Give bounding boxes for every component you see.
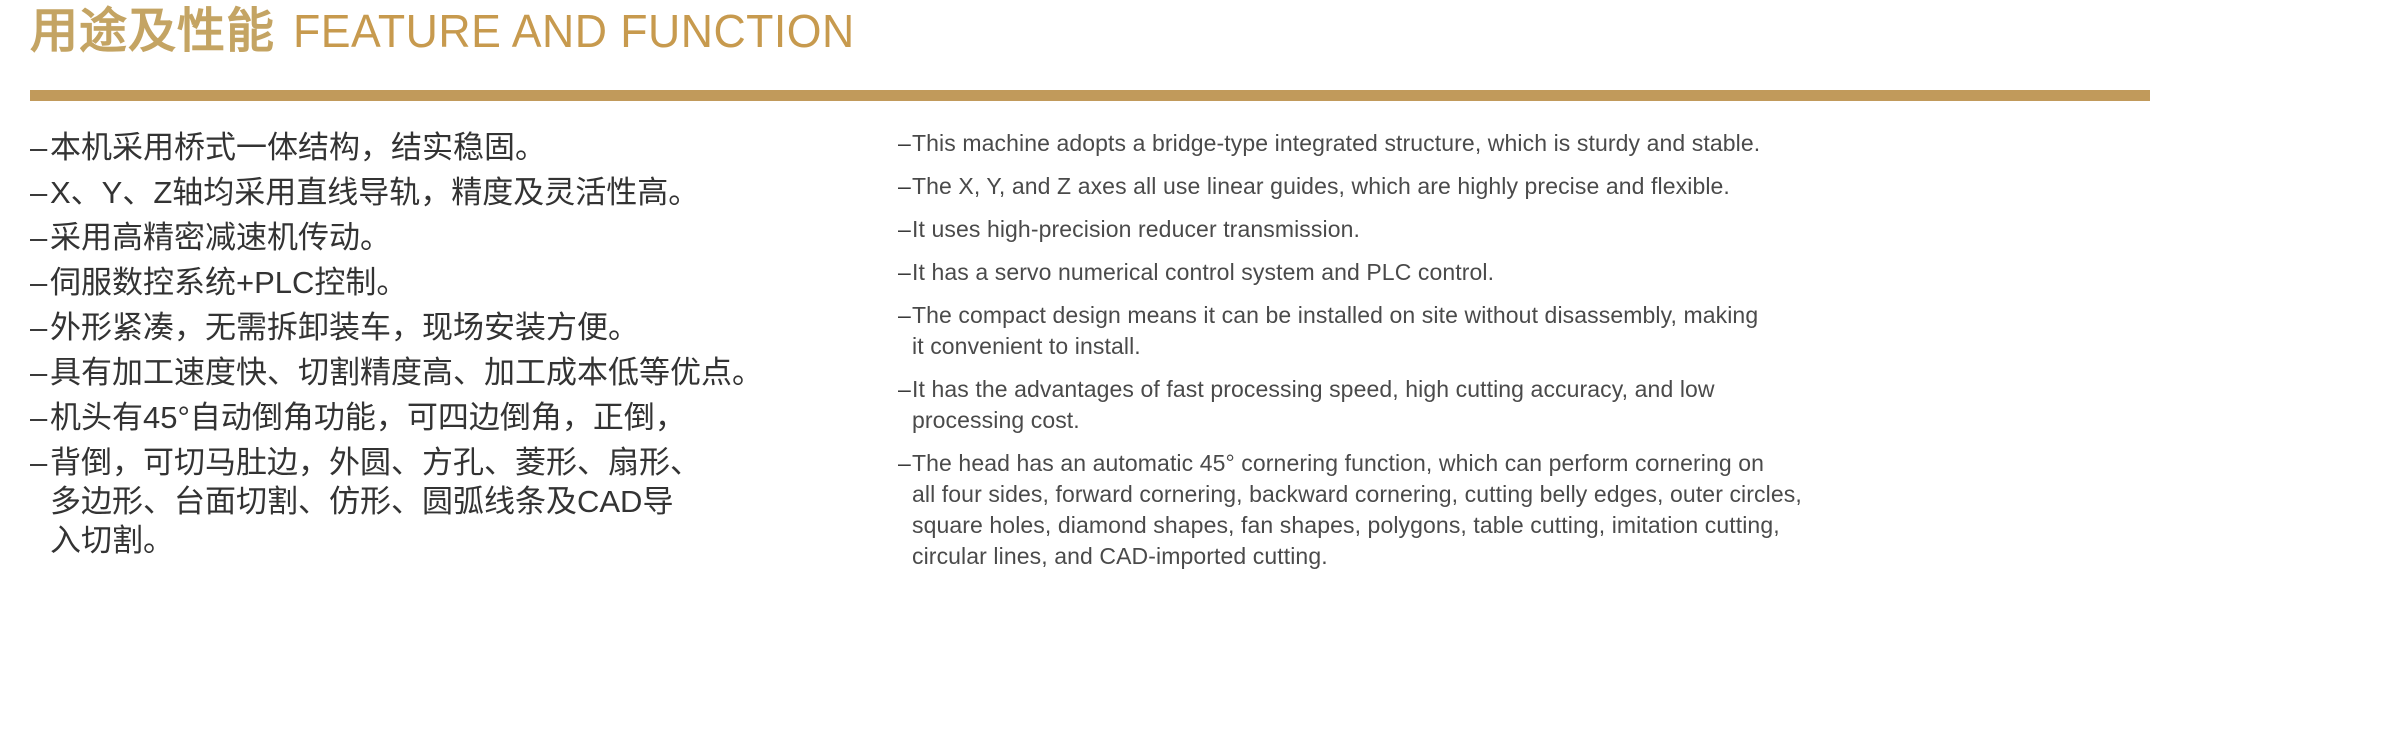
list-item: – 伺服数控系统+PLC控制。 bbox=[30, 263, 890, 302]
list-item: – It uses high-precision reducer transmi… bbox=[898, 214, 2298, 245]
bullet-dash-icon: – bbox=[898, 214, 912, 245]
list-item: – This machine adopts a bridge-type inte… bbox=[898, 128, 2298, 159]
bullet-dash-icon: – bbox=[898, 448, 912, 479]
page-title-english: FEATURE AND FUNCTION bbox=[293, 8, 855, 54]
list-item: – 采用高精密减速机传动。 bbox=[30, 218, 890, 257]
list-item-label: 伺服数控系统+PLC控制。 bbox=[50, 263, 890, 302]
list-item-label: X、Y、Z轴均采用直线导轨，精度及灵活性高。 bbox=[50, 173, 890, 212]
list-item-label: It has a servo numerical control system … bbox=[912, 257, 2298, 288]
list-item-line: circular lines, and CAD-imported cutting… bbox=[912, 541, 2298, 572]
bullet-dash-icon: – bbox=[898, 374, 912, 405]
list-item-label: 采用高精密减速机传动。 bbox=[50, 218, 890, 257]
gold-divider-bar bbox=[30, 90, 2150, 101]
list-item-line: all four sides, forward cornering, backw… bbox=[912, 479, 2298, 510]
bullet-dash-icon: – bbox=[30, 128, 50, 167]
list-item: – The compact design means it can be ins… bbox=[898, 300, 2298, 362]
bullet-dash-icon: – bbox=[898, 300, 912, 331]
bullet-dash-icon: – bbox=[898, 171, 912, 202]
list-item-line: square holes, diamond shapes, fan shapes… bbox=[912, 510, 2298, 541]
list-item: – It has the advantages of fast processi… bbox=[898, 374, 2298, 436]
list-item-label: 具有加工速度快、切割精度高、加工成本低等优点。 bbox=[50, 353, 890, 392]
chinese-feature-list: – 本机采用桥式一体结构，结实稳固。 – X、Y、Z轴均采用直线导轨，精度及灵活… bbox=[30, 128, 890, 566]
list-item-line: The head has an automatic 45° cornering … bbox=[912, 450, 1764, 476]
list-item: – 具有加工速度快、切割精度高、加工成本低等优点。 bbox=[30, 353, 890, 392]
bullet-dash-icon: – bbox=[30, 398, 50, 437]
list-item-line: it convenient to install. bbox=[912, 331, 2298, 362]
bullet-dash-icon: – bbox=[30, 308, 50, 347]
bullet-dash-icon: – bbox=[898, 128, 912, 159]
list-item-line: The compact design means it can be insta… bbox=[912, 302, 1758, 328]
bullet-dash-icon: – bbox=[30, 443, 50, 482]
list-item: – 外形紧凑，无需拆卸装车，现场安装方便。 bbox=[30, 308, 890, 347]
page-title: 用途及性能 FEATURE AND FUNCTION bbox=[30, 8, 2160, 78]
list-item: – 背倒，可切马肚边，外圆、方孔、菱形、扇形、 多边形、台面切割、仿形、圆弧线条… bbox=[30, 443, 890, 560]
list-item-label: It has the advantages of fast processing… bbox=[912, 374, 2298, 436]
page-title-chinese: 用途及性能 bbox=[30, 8, 275, 56]
bullet-dash-icon: – bbox=[30, 263, 50, 302]
list-item: – It has a servo numerical control syste… bbox=[898, 257, 2298, 288]
list-item-label: This machine adopts a bridge-type integr… bbox=[912, 128, 2298, 159]
content-columns: – 本机采用桥式一体结构，结实稳固。 – X、Y、Z轴均采用直线导轨，精度及灵活… bbox=[0, 128, 2400, 728]
list-item: – X、Y、Z轴均采用直线导轨，精度及灵活性高。 bbox=[30, 173, 890, 212]
list-item: – 本机采用桥式一体结构，结实稳固。 bbox=[30, 128, 890, 167]
list-item: – 机头有45°自动倒角功能，可四边倒角，正倒， bbox=[30, 398, 890, 437]
list-item-label: 外形紧凑，无需拆卸装车，现场安装方便。 bbox=[50, 308, 890, 347]
list-item-label: The X, Y, and Z axes all use linear guid… bbox=[912, 171, 2298, 202]
list-item-label: 背倒，可切马肚边，外圆、方孔、菱形、扇形、 多边形、台面切割、仿形、圆弧线条及C… bbox=[50, 443, 890, 560]
list-item-line: 多边形、台面切割、仿形、圆弧线条及CAD导 bbox=[50, 482, 890, 521]
list-item-label: The compact design means it can be insta… bbox=[912, 300, 2298, 362]
bullet-dash-icon: – bbox=[30, 353, 50, 392]
list-item-line: 入切割。 bbox=[50, 521, 890, 560]
list-item-label: It uses high-precision reducer transmiss… bbox=[912, 214, 2298, 245]
list-item: – The X, Y, and Z axes all use linear gu… bbox=[898, 171, 2298, 202]
bullet-dash-icon: – bbox=[30, 173, 50, 212]
bullet-dash-icon: – bbox=[30, 218, 50, 257]
bullet-dash-icon: – bbox=[898, 257, 912, 288]
list-item-line: 背倒，可切马肚边，外圆、方孔、菱形、扇形、 bbox=[50, 445, 701, 480]
section-header: 用途及性能 FEATURE AND FUNCTION bbox=[30, 8, 2160, 98]
english-feature-list: – This machine adopts a bridge-type inte… bbox=[898, 128, 2298, 584]
list-item-label: 本机采用桥式一体结构，结实稳固。 bbox=[50, 128, 890, 167]
list-item-label: 机头有45°自动倒角功能，可四边倒角，正倒， bbox=[50, 398, 890, 437]
list-item: – The head has an automatic 45° cornerin… bbox=[898, 448, 2298, 572]
list-item-line: It has the advantages of fast processing… bbox=[912, 376, 1715, 402]
list-item-line: processing cost. bbox=[912, 405, 2298, 436]
list-item-label: The head has an automatic 45° cornering … bbox=[912, 448, 2298, 572]
